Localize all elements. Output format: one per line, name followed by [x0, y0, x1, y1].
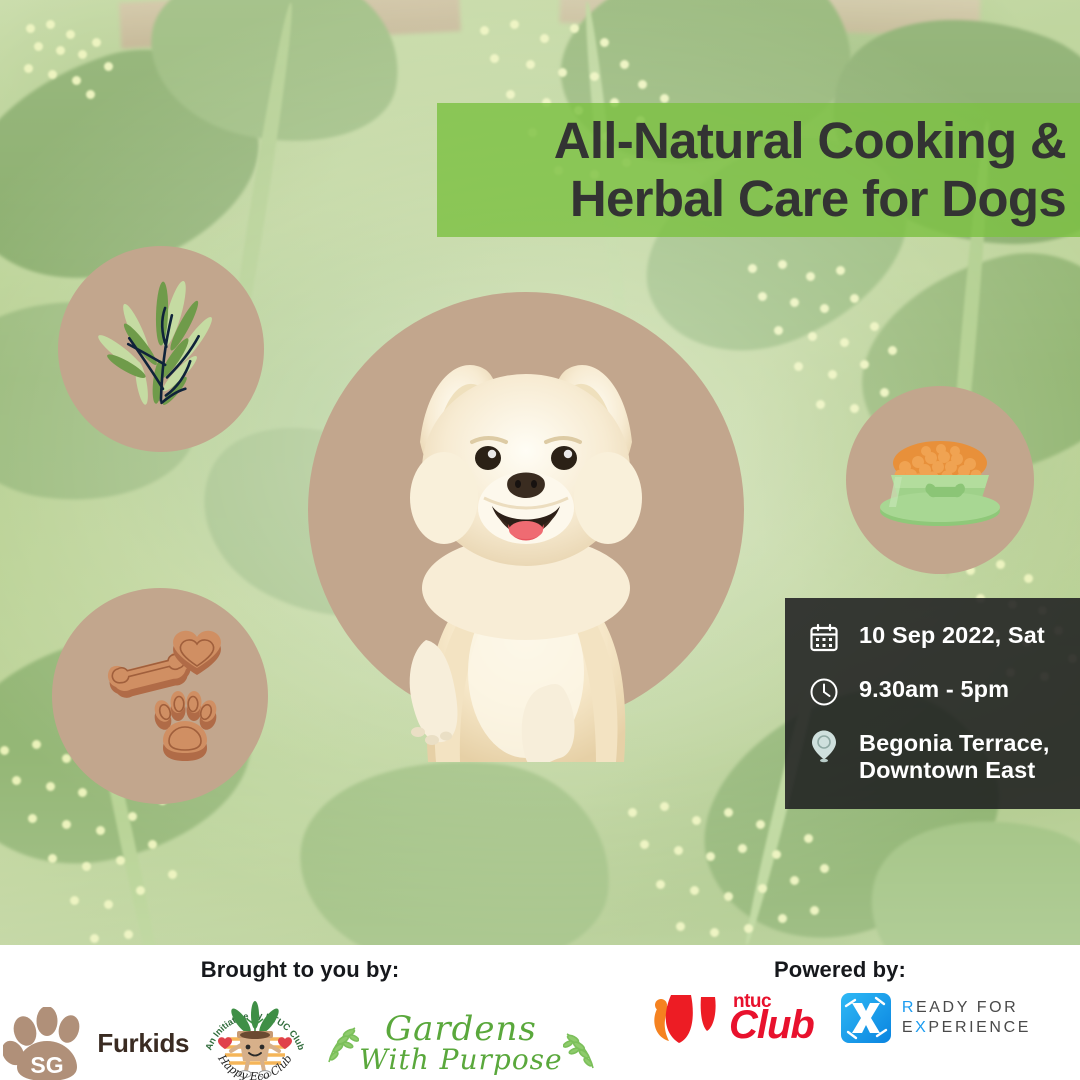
powered-by-section: Powered by: ntuc Club [600, 945, 1080, 1080]
detail-row-date: 10 Sep 2022, Sat [807, 620, 1064, 655]
rfx-x-icon [840, 992, 892, 1044]
sg-furkids-logo[interactable]: SG Furkids [3, 1007, 189, 1080]
dog-food-bowl-circle [846, 386, 1034, 574]
rfx-line-1: READY FOR [902, 998, 1031, 1018]
event-time: 9.30am - 5pm [859, 674, 1009, 703]
paw-print-icon: SG [3, 1007, 95, 1080]
ntuc-club-logo[interactable]: ntuc Club [649, 989, 814, 1047]
powered-by-label: Powered by: [774, 957, 906, 983]
venue-line-1: Begonia Terrace, [859, 730, 1050, 756]
gardens-with-purpose-logo[interactable]: Gardens With Purpose [325, 1013, 596, 1074]
dog-treats-icon [52, 588, 268, 804]
herb-circle [58, 246, 264, 452]
ready-for-experience-logo[interactable]: READY FOR EXPERIENCE [840, 992, 1031, 1044]
dog-food-bowl-icon [846, 386, 1034, 574]
event-date: 10 Sep 2022, Sat [859, 620, 1045, 649]
event-venue: Begonia Terrace, Downtown East [859, 728, 1050, 784]
page-title-line-2: Herbal Care for Dogs [455, 170, 1066, 228]
ntuc-club-wordmark: ntuc Club [729, 994, 814, 1042]
sg-furkids-wordmark: Furkids [97, 1028, 189, 1059]
detail-row-time: 9.30am - 5pm [807, 674, 1064, 709]
detail-row-venue: Begonia Terrace, Downtown East [807, 728, 1064, 784]
sg-mark-text: SG [31, 1052, 64, 1078]
calendar-icon [807, 621, 841, 655]
gardens-with-purpose-wordmark: Gardens With Purpose [359, 1013, 562, 1074]
powered-by-logos: ntuc Club [649, 989, 1031, 1047]
page-title-line-1: All-Natural Cooking & [455, 112, 1066, 170]
gwp-line-1: Gardens [359, 1013, 562, 1046]
title-banner: All-Natural Cooking & Herbal Care for Do… [437, 103, 1080, 237]
brought-to-you-by-section: Brought to you by: SG Furkids [0, 945, 600, 1080]
event-poster: All-Natural Cooking & Herbal Care for Do… [0, 0, 1080, 1080]
dog-photo-circle-backdrop [308, 292, 744, 728]
brought-to-you-by-logos: SG Furkids An Initiative by NTUC Club [3, 989, 596, 1080]
event-details-panel: 10 Sep 2022, Sat 9.30am - 5pm [785, 598, 1080, 809]
location-pin-icon [807, 729, 841, 763]
fern-leaf-icon-left [325, 1020, 359, 1068]
ntuc-u-mark-icon [649, 989, 723, 1047]
dog-treats-circle [52, 588, 268, 804]
club-text: Club [729, 1009, 814, 1042]
brought-to-you-by-label: Brought to you by: [201, 957, 400, 983]
rosemary-herb-sprig-icon [58, 246, 264, 452]
clock-icon [807, 675, 841, 709]
gwp-line-2: With Purpose [359, 1046, 562, 1073]
fern-leaf-icon-right [563, 1026, 597, 1074]
footer: Brought to you by: SG Furkids [0, 945, 1080, 1080]
ready-for-experience-wordmark: READY FOR EXPERIENCE [902, 998, 1031, 1038]
venue-line-2: Downtown East [859, 757, 1035, 783]
rfx-line-2: EXPERIENCE [902, 1018, 1031, 1038]
happy-eco-club-logo[interactable]: An Initiative by NTUC Club [201, 989, 309, 1080]
